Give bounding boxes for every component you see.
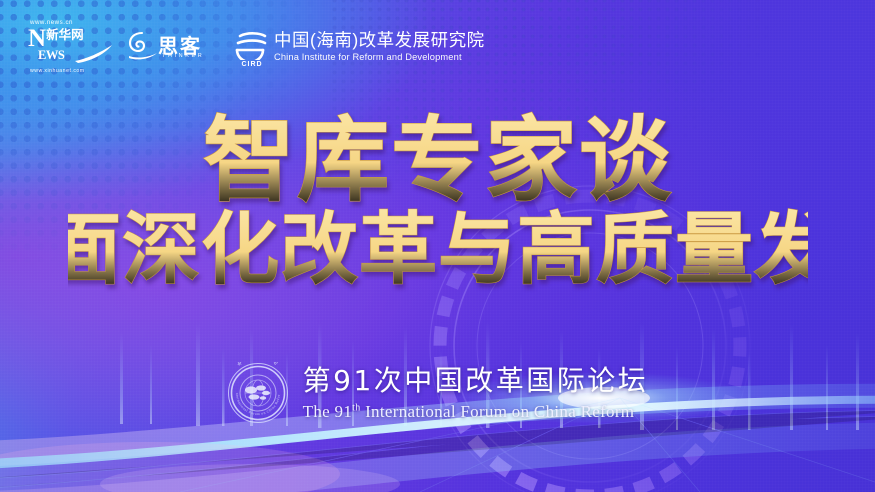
- forum-en-suffix: International Forum on China Reform: [361, 402, 635, 421]
- forum-en-prefix: The 91: [303, 402, 352, 421]
- main-title-line-2: 全面深化改革与高质量发展: [0, 200, 875, 298]
- xinhua-letter-n: N: [28, 28, 45, 50]
- xinhua-cn-text: 新华网: [46, 29, 84, 41]
- title-line-1-text: 智库专家谈: [202, 108, 672, 214]
- logo-bar: www.news.cn N 新华网 EWS www.xinhuanet.com …: [28, 24, 485, 70]
- forum-text-block: 第91次中国改革国际论坛 The 91th International Foru…: [303, 367, 649, 420]
- forum-footer: 中国改革国际论坛 International Forum on China Re…: [0, 362, 875, 424]
- forum-title-en: The 91th International Forum on China Re…: [303, 403, 649, 420]
- cird-en-text: China Institute for Reform and Developme…: [274, 53, 485, 62]
- title-line-2-art: 全面深化改革与高质量发展: [68, 200, 808, 298]
- cird-abbr-text: CIRD: [235, 61, 269, 68]
- main-title: 智库专家谈 全面深化改革与高质量发展: [0, 108, 875, 298]
- thinker-spiral-icon: [128, 29, 158, 61]
- forum-emblem-icon: 中国改革国际论坛 International Forum on China Re…: [227, 362, 289, 424]
- forum-en-superscript: th: [352, 402, 360, 413]
- xinhua-bottom-url: www.xinhuanet.com: [30, 69, 85, 74]
- xinhua-swoosh-icon: [74, 44, 114, 64]
- xinhua-mark: N 新华网 EWS: [28, 28, 102, 68]
- cird-cn-text: 中国(海南)改革发展研究院: [274, 32, 485, 50]
- title-line-1-art: 智库专家谈: [158, 108, 718, 216]
- title-line-2-text: 全面深化改革与高质量发展: [68, 205, 808, 295]
- xinhuanet-logo[interactable]: www.news.cn N 新华网 EWS www.xinhuanet.com: [28, 20, 102, 74]
- cird-globe-icon: [234, 30, 268, 60]
- poster-banner: www.news.cn N 新华网 EWS www.xinhuanet.com …: [0, 0, 875, 492]
- forum-title-cn: 第91次中国改革国际论坛: [303, 367, 649, 395]
- cird-logo[interactable]: CIRD 中国(海南)改革发展研究院 China Institute for R…: [234, 26, 485, 68]
- thinker-logo[interactable]: 思客 THINKER: [128, 27, 208, 67]
- cird-mark: CIRD: [234, 30, 268, 64]
- thinker-en-text: THINKER: [162, 53, 204, 59]
- xinhua-news-text: EWS: [38, 50, 64, 61]
